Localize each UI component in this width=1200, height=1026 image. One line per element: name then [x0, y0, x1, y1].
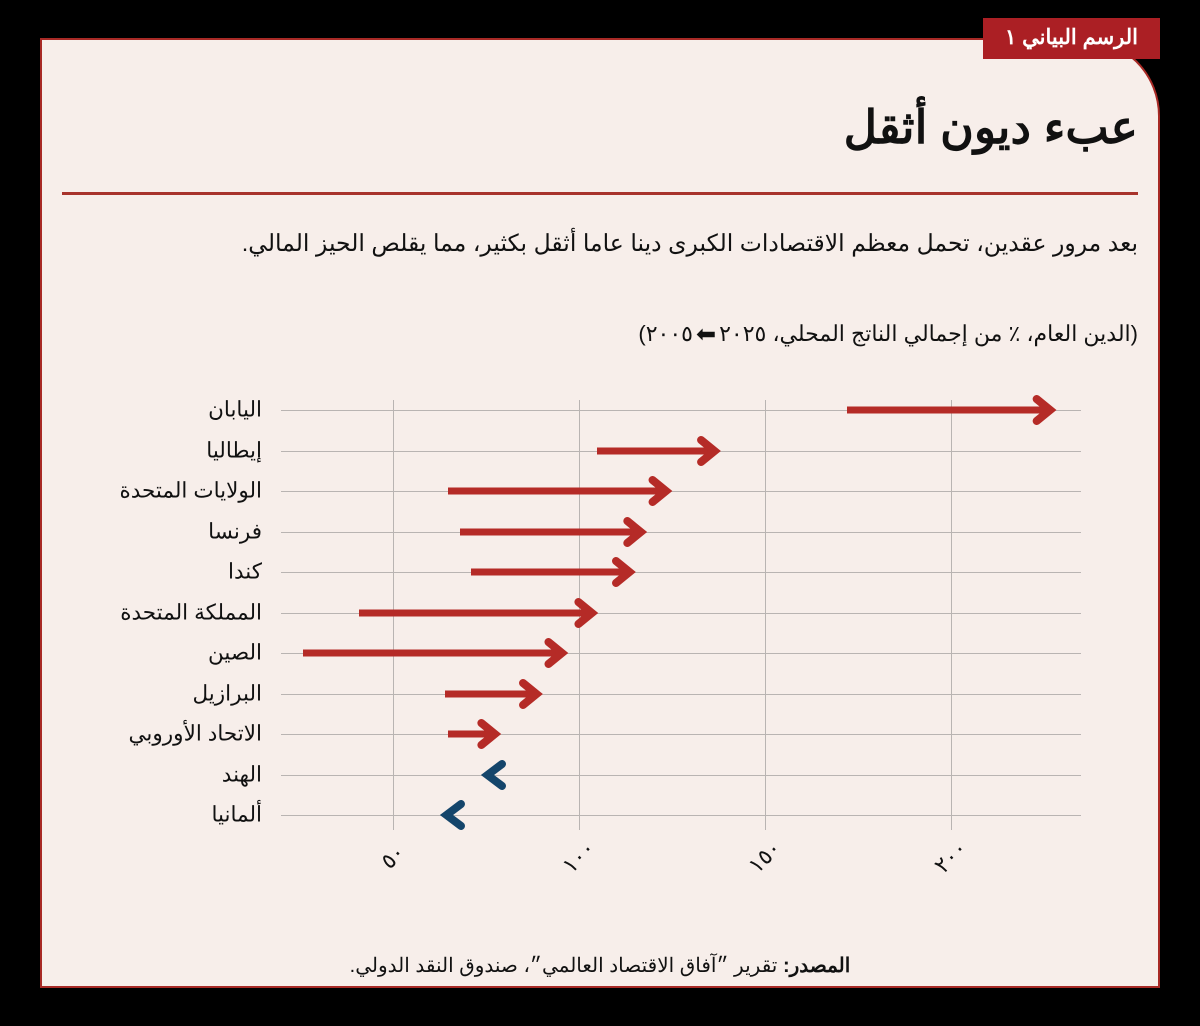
- category-label: اليابان: [208, 398, 262, 423]
- arrow-decrease: [470, 763, 509, 787]
- row-gridline: [281, 572, 1081, 573]
- arrow-increase: [831, 398, 1068, 422]
- category-label: كندا: [228, 560, 262, 585]
- chart-units-note: (الدين العام، ٪ من إجمالي الناتج المحلي،…: [62, 320, 1138, 349]
- plot-area: [281, 400, 1081, 830]
- row-gridline: [281, 532, 1081, 533]
- category-axis-labels: اليابانإيطالياالولايات المتحدةفرنساكنداا…: [62, 400, 262, 830]
- category-label: المملكة المتحدة: [120, 600, 262, 625]
- arrow-increase: [287, 641, 579, 665]
- arrow-increase: [343, 601, 609, 625]
- category-label: إيطاليا: [206, 438, 262, 463]
- category-label: الهند: [222, 762, 262, 787]
- row-gridline: [281, 815, 1081, 816]
- title-divider: [62, 192, 1138, 195]
- arrow-increase: [432, 479, 684, 503]
- arrow-increase: [444, 520, 658, 544]
- category-label: الاتحاد الأوروبي: [129, 722, 262, 747]
- row-gridline: [281, 734, 1081, 735]
- chart-number-badge: الرسم البياني ١: [983, 18, 1160, 59]
- category-label: فرنسا: [208, 519, 262, 544]
- source-label: المصدر:: [783, 955, 850, 977]
- value-gridline: [951, 400, 952, 830]
- category-label: الصين: [208, 641, 262, 666]
- value-tick-label: ١٥٠: [743, 835, 786, 878]
- value-tick-label: ١٠٠: [557, 835, 600, 878]
- units-text-trailing: ٢٠٠٥): [638, 321, 693, 346]
- value-gridline: [765, 400, 766, 830]
- category-label: الولايات المتحدة: [119, 479, 262, 504]
- units-text-leading: (الدين العام، ٪ من إجمالي الناتج المحلي،…: [719, 321, 1138, 346]
- figure-root: الرسم البياني ١ عبء ديون أثقل بعد مرور ع…: [0, 0, 1200, 1026]
- value-axis-ticks: ٥٠١٠٠١٥٠٢٠٠: [281, 838, 1081, 908]
- chart-title: عبء ديون أثقل: [844, 100, 1138, 154]
- row-gridline: [281, 775, 1081, 776]
- source-text: تقرير ״آفاق الاقتصاد العالمي״، صندوق الن…: [350, 955, 778, 977]
- category-label: ألمانيا: [211, 803, 262, 828]
- arrow-increase: [429, 682, 554, 706]
- value-tick-label: ٥٠: [375, 839, 410, 874]
- arrow-increase: [432, 722, 512, 746]
- row-gridline: [281, 694, 1081, 695]
- arrow-increase: [581, 439, 732, 463]
- chart-subtitle: بعد مرور عقدين، تحمل معظم الاقتصادات الك…: [62, 228, 1138, 259]
- value-tick-label: ٢٠٠: [929, 835, 972, 878]
- arrow-left-icon: ⬅: [693, 320, 719, 349]
- arrow-decrease: [429, 803, 468, 827]
- source-note: المصدر: تقرير ״آفاق الاقتصاد العالمي״، ص…: [62, 953, 1138, 978]
- category-label: البرازيل: [193, 681, 263, 706]
- arrow-increase: [455, 560, 647, 584]
